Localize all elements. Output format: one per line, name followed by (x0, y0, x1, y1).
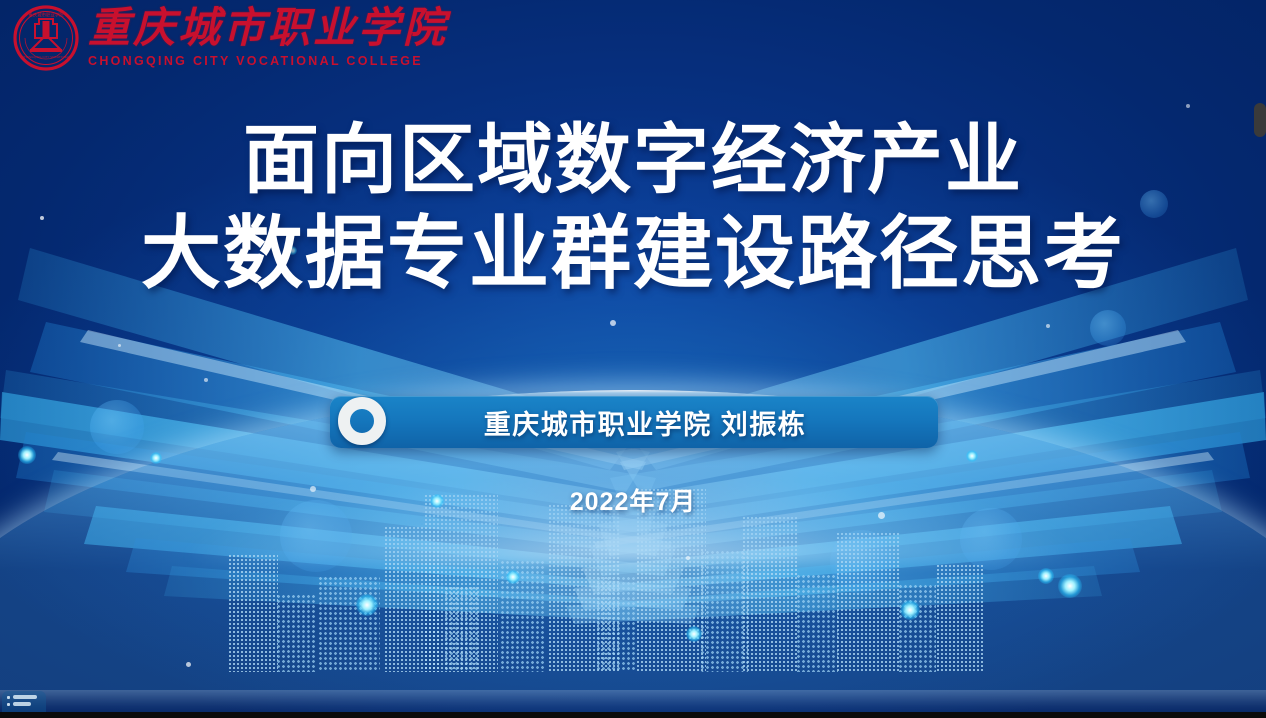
presentation-viewer: 重庆城市职业学院 CHONGQING CITY VOCATIONAL 重庆城市职… (0, 0, 1266, 718)
slide-title: 面向区域数字经济产业 大数据专业群建设路径思考 (0, 118, 1266, 300)
slide-canvas[interactable]: 重庆城市职业学院 CHONGQING CITY VOCATIONAL 重庆城市职… (0, 0, 1266, 712)
caption-bar (13, 695, 37, 699)
title-line-2: 大数据专业群建设路径思考 (0, 208, 1266, 300)
college-name-cn: 重庆城市职业学院 (88, 8, 448, 50)
college-logo: 重庆城市职业学院 CHONGQING CITY VOCATIONAL 重庆城市职… (12, 4, 448, 72)
light-spark (356, 594, 378, 616)
light-spark (686, 626, 702, 642)
light-spark (150, 452, 162, 464)
particle-dot (610, 320, 616, 326)
particle-dot (118, 344, 121, 347)
college-seal-icon: 重庆城市职业学院 CHONGQING CITY VOCATIONAL (12, 4, 80, 72)
college-name-en: CHONGQING CITY VOCATIONAL COLLEGE (88, 55, 448, 68)
particle-dot (204, 378, 208, 382)
svg-text:重庆城市职业学院: 重庆城市职业学院 (28, 12, 64, 19)
presenter-name: 重庆城市职业学院 刘振栋 (386, 403, 938, 442)
particle-dot (1046, 324, 1050, 328)
light-spark (506, 570, 520, 584)
svg-text:CHONGQING CITY VOCATIONAL: CHONGQING CITY VOCATIONAL (22, 55, 70, 59)
particle-dot (686, 556, 690, 560)
caption-overlay-widget[interactable] (2, 691, 46, 712)
ring-circle-icon (338, 397, 386, 445)
light-spark (18, 446, 36, 464)
caption-line (7, 695, 41, 699)
bokeh-circle (1090, 310, 1126, 346)
title-line-1: 面向区域数字经济产业 (0, 118, 1266, 204)
caption-tick-icon (7, 696, 10, 699)
light-spark (1038, 568, 1054, 584)
particle-dot (186, 662, 191, 667)
presenter-bar: 重庆城市职业学院 刘振栋 (330, 396, 938, 448)
caption-line (7, 702, 41, 706)
caption-tick-icon (7, 703, 10, 706)
light-spark (1058, 574, 1082, 598)
light-spark (966, 450, 978, 462)
light-spark (900, 600, 920, 620)
caption-bar (13, 702, 31, 706)
particle-dot (1186, 104, 1190, 108)
slide-date: 2022年7月 (0, 482, 1266, 518)
player-bottom-bar (0, 712, 1266, 718)
vertical-scrollbar-thumb[interactable] (1254, 103, 1266, 137)
